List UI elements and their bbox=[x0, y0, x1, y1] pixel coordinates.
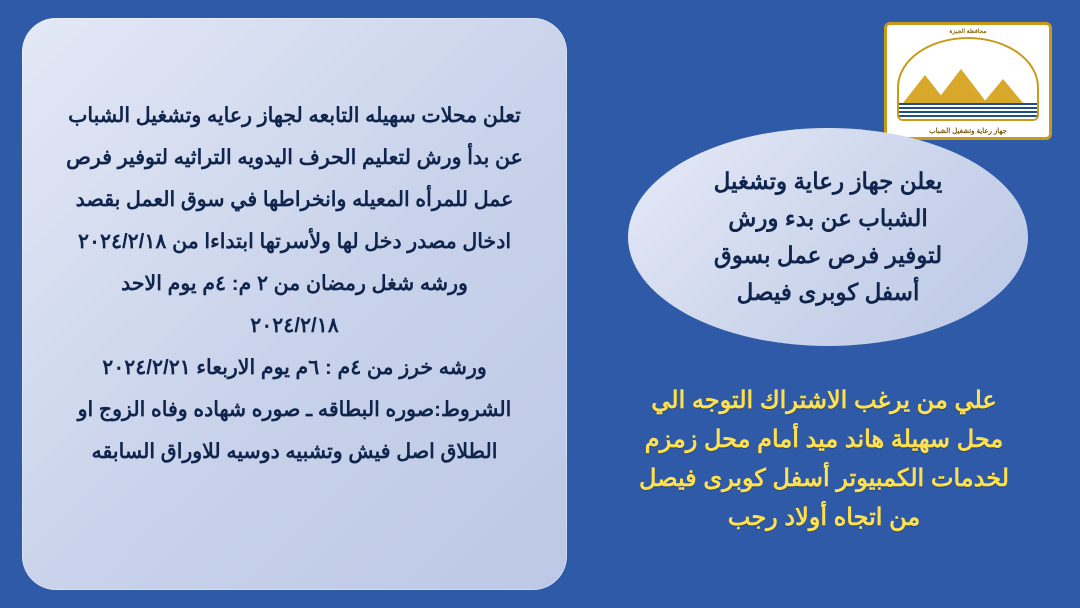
announcement-panel: تعلن محلات سهيله التابعه لجهاز رعايه وتش… bbox=[22, 18, 567, 590]
headline-line-3: لتوفير فرص عمل بسوق bbox=[714, 237, 943, 274]
logo-caption-top: محافظة الجيزة bbox=[887, 28, 1049, 35]
headline-ellipse: يعلن جهاز رعاية وتشغيل الشباب عن بدء ورش… bbox=[628, 128, 1028, 346]
contact-line-3: لخدمات الكمبيوتر أسفل كوبرى فيصل bbox=[598, 460, 1050, 499]
headline-line-1: يعلن جهاز رعاية وتشغيل bbox=[714, 163, 943, 200]
headline-text: يعلن جهاز رعاية وتشغيل الشباب عن بدء ورش… bbox=[678, 163, 979, 312]
pyramid-shape-large bbox=[935, 69, 987, 103]
contact-line-4: من اتجاه أولاد رجب bbox=[598, 499, 1050, 538]
organization-logo: محافظة الجيزة جهاز رعاية وتشغيل الشباب bbox=[884, 22, 1052, 140]
announcement-line-2: عن بدأ ورش لتعليم الحرف اليدويه التراثيه… bbox=[48, 138, 541, 178]
contact-line-1: علي من يرغب الاشتراك التوجه الي bbox=[598, 382, 1050, 421]
announcement-line-9: الطلاق اصل فيش وتشبيه دوسيه للاوراق السا… bbox=[48, 432, 541, 472]
announcement-line-4: ادخال مصدر دخل لها ولأسرتها ابتداءا من ٢… bbox=[48, 222, 541, 262]
announcement-line-1: تعلن محلات سهيله التابعه لجهاز رعايه وتش… bbox=[48, 96, 541, 136]
contact-info-block: علي من يرغب الاشتراك التوجه الي محل سهيل… bbox=[598, 382, 1050, 538]
announcement-line-6: ٢٠٢٤/٢/١٨ bbox=[48, 306, 541, 346]
announcement-line-8: الشروط:صوره البطاقه ـ صوره شهاده وفاه ال… bbox=[48, 390, 541, 430]
announcement-line-7: ورشه خرز من ٤م : ٦م يوم الاربعاء ٢٠٢٤/٢/… bbox=[48, 348, 541, 388]
announcement-line-3: عمل للمرأه المعيله وانخراطها في سوق العم… bbox=[48, 180, 541, 220]
announcement-line-5: ورشه شغل رمضان من ٢ م: ٤م يوم الاحد bbox=[48, 264, 541, 304]
pyramid-shape-medium bbox=[983, 79, 1023, 103]
poster-canvas: تعلن محلات سهيله التابعه لجهاز رعايه وتش… bbox=[0, 0, 1080, 608]
pyramids-icon bbox=[897, 37, 1039, 121]
headline-line-4: أسفل كوبرى فيصل bbox=[714, 274, 943, 311]
logo-inner: محافظة الجيزة جهاز رعاية وتشغيل الشباب bbox=[887, 25, 1049, 137]
contact-line-2: محل سهيلة هاند ميد أمام محل زمزم bbox=[598, 421, 1050, 460]
water-icon bbox=[899, 103, 1037, 119]
headline-line-2: الشباب عن بدء ورش bbox=[714, 200, 943, 237]
announcement-text: تعلن محلات سهيله التابعه لجهاز رعايه وتش… bbox=[48, 96, 541, 474]
logo-caption-bottom: جهاز رعاية وتشغيل الشباب bbox=[887, 127, 1049, 135]
